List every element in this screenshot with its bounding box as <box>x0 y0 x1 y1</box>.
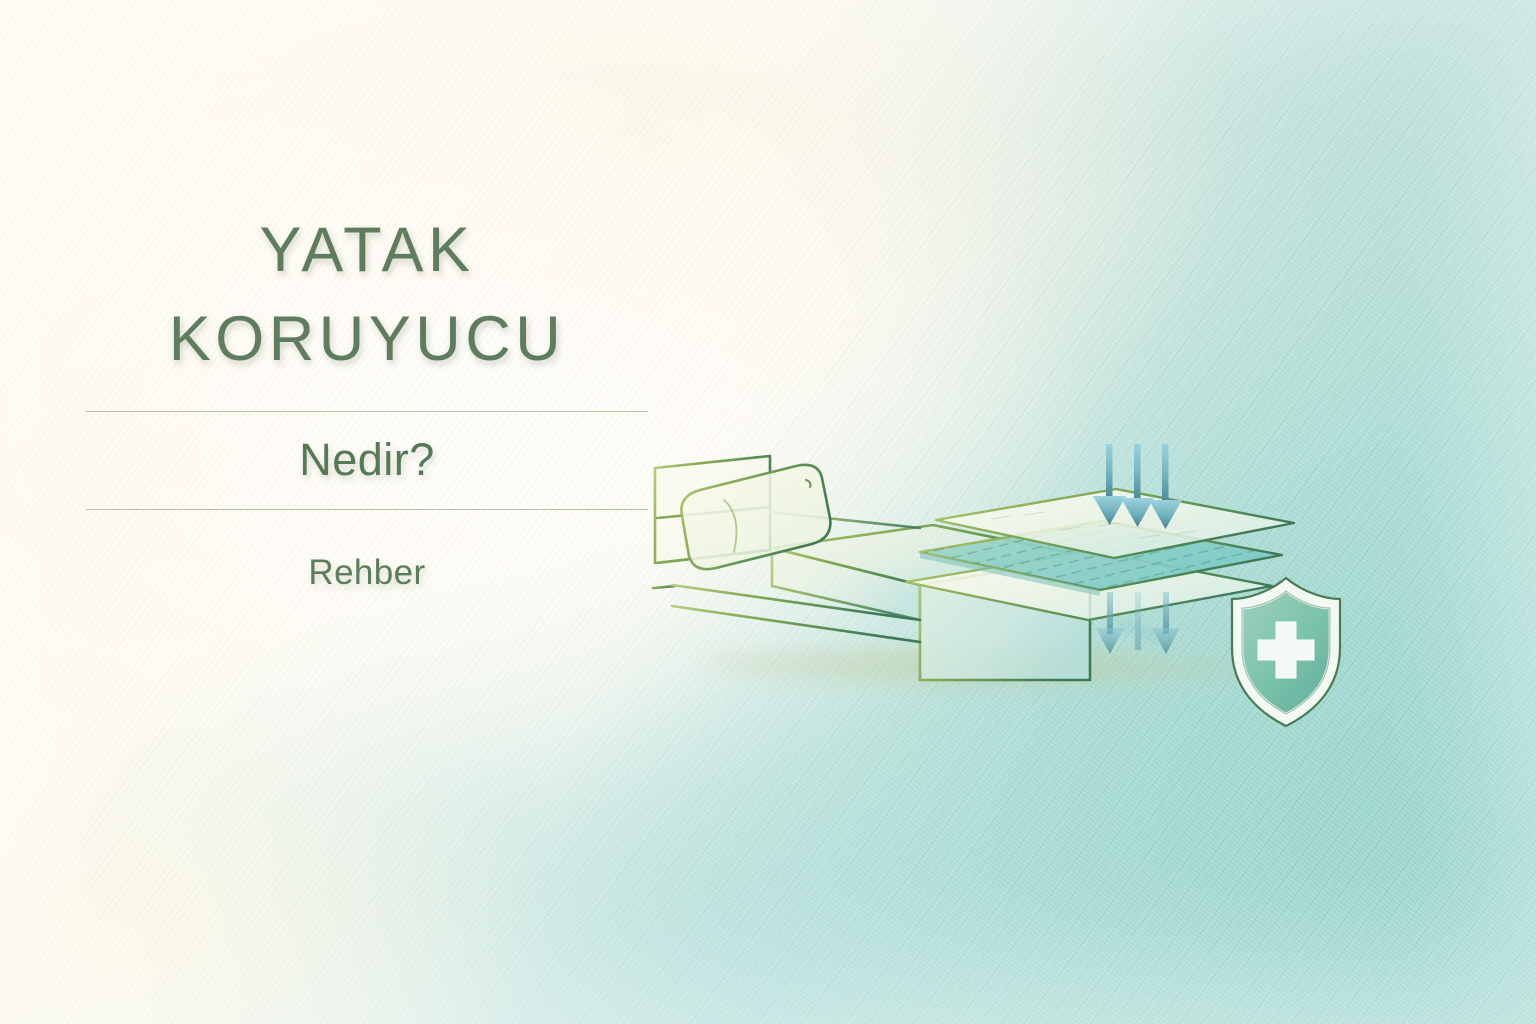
hero-banner: YATAK KORUYUCU Nedir? Rehber <box>0 0 1536 1024</box>
protection-shield <box>1232 578 1340 726</box>
liquid-arrows-above <box>1093 444 1182 529</box>
hero-subtitle: Nedir? <box>86 412 648 509</box>
liquid-arrows-below <box>1096 592 1180 654</box>
headboard-foot <box>653 586 675 588</box>
mattress-protector-illustration <box>620 420 1420 740</box>
hero-text-block: YATAK KORUYUCU Nedir? Rehber <box>86 206 648 593</box>
divider-bottom <box>86 509 648 510</box>
page-title: YATAK KORUYUCU <box>86 206 648 385</box>
arrow-below-2 <box>1135 592 1141 650</box>
divider-top <box>86 411 648 412</box>
hero-tagline: Rehber <box>86 553 648 593</box>
